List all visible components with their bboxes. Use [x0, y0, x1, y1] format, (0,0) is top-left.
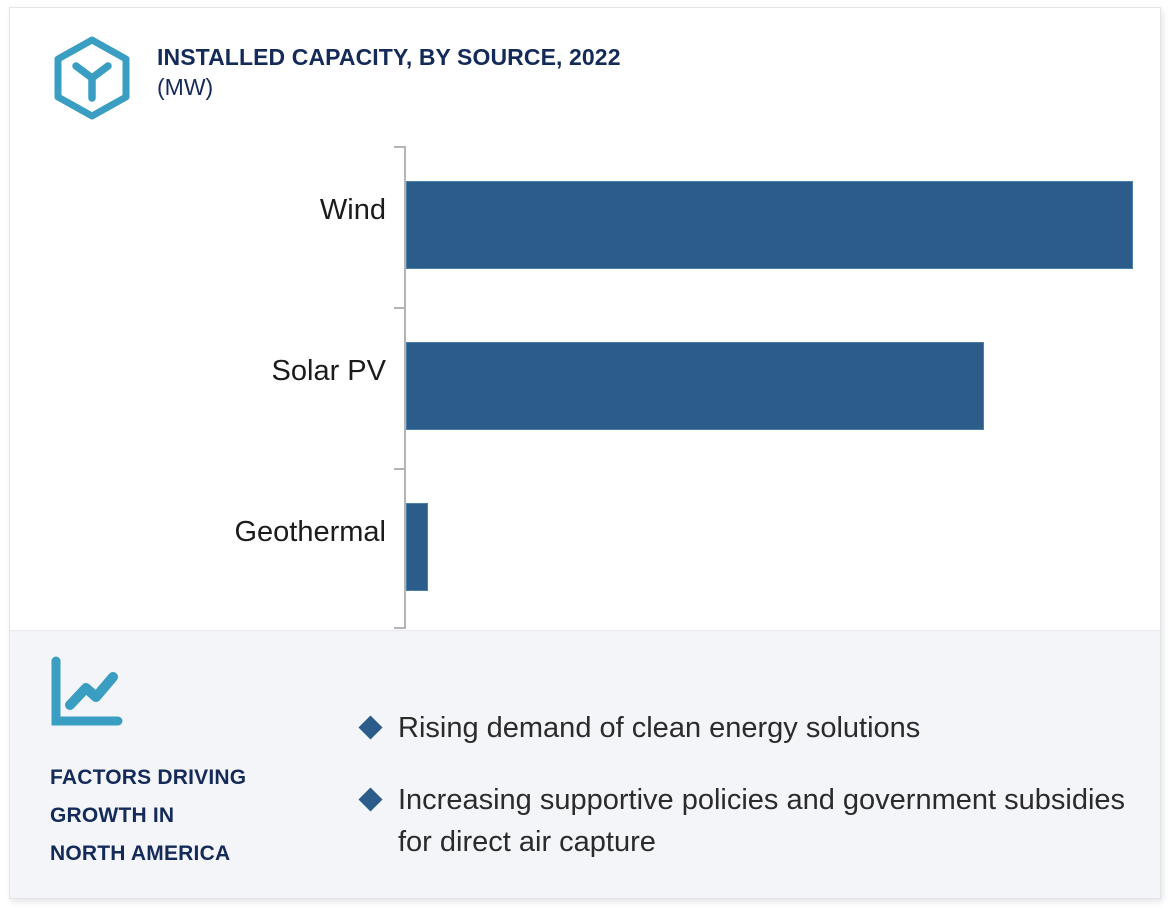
factors-heading: FACTORS DRIVING GROWTH IN NORTH AMERICA [50, 759, 340, 873]
list-item-text: Rising demand of clean energy solutions [398, 712, 920, 744]
page-title: INSTALLED CAPACITY, BY SOURCE, 2022 [157, 42, 621, 72]
axis-tick-bottom [394, 627, 405, 629]
diamond-bullet-icon [358, 715, 382, 739]
axis-tick-top [394, 146, 405, 148]
factors-panel: FACTORS DRIVING GROWTH IN NORTH AMERICA … [10, 630, 1160, 899]
factors-heading-line-3: NORTH AMERICA [50, 835, 340, 873]
list-item-text: Increasing supportive policies and gover… [398, 784, 1125, 858]
category-label-geothermal: Geothermal [10, 516, 386, 549]
factors-bullet-list: Rising demand of clean energy solutions … [360, 707, 1140, 893]
bar-row-solar-pv: Solar PV [10, 326, 1160, 446]
axis-tick-1 [394, 307, 405, 309]
factors-heading-line-1: FACTORS DRIVING [50, 759, 340, 797]
chart-header: INSTALLED CAPACITY, BY SOURCE, 2022 (MW) [10, 8, 1160, 133]
category-label-solar-pv: Solar PV [10, 355, 386, 388]
bar-row-geothermal: Geothermal [10, 487, 1160, 607]
list-item: Rising demand of clean energy solutions [360, 707, 1140, 749]
diamond-bullet-icon [358, 787, 382, 811]
factors-heading-line-2: GROWTH IN [50, 797, 340, 835]
bar-geothermal[interactable] [406, 503, 428, 591]
bar-wind[interactable] [406, 181, 1133, 269]
line-chart-icon [48, 655, 124, 731]
bar-solar-pv[interactable] [406, 342, 984, 430]
hexagon-y-logo-icon [50, 36, 134, 120]
category-label-wind: Wind [10, 194, 386, 227]
chart-unit-label: (MW) [157, 72, 621, 102]
title-block: INSTALLED CAPACITY, BY SOURCE, 2022 (MW) [157, 42, 621, 102]
bar-row-wind: Wind [10, 165, 1160, 285]
axis-tick-2 [394, 468, 405, 470]
bar-chart-plot-area: Wind Solar PV Geothermal [10, 133, 1160, 630]
infographic-card: INSTALLED CAPACITY, BY SOURCE, 2022 (MW)… [9, 7, 1161, 899]
list-item: Increasing supportive policies and gover… [360, 779, 1140, 863]
